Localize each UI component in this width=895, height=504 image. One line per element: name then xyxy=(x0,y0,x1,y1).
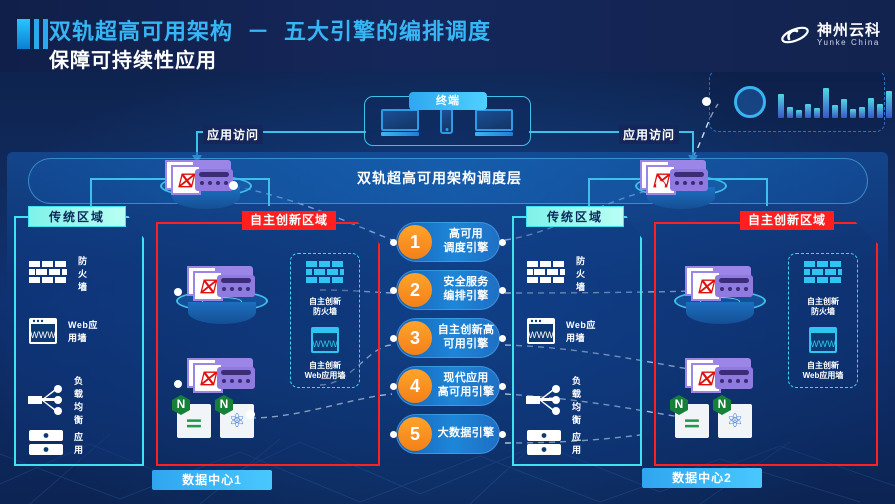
datacenter-2-label: 数据中心2 xyxy=(642,468,762,488)
k8s-icon-2: N ⚛ xyxy=(718,404,752,438)
innovation-webwall-1: WWW 自主创新Web应用墙 xyxy=(290,326,360,381)
engine-label-line2: 编排引擎 xyxy=(443,290,488,304)
slide-header: 双轨超高可用架构－五大引擎的编排调度 保障可持续性应用 神州云科 Yunke C… xyxy=(0,0,895,72)
traditional-item-应用: 应用 xyxy=(28,428,90,458)
engine-label-line1: 大数据引擎 xyxy=(438,427,495,441)
laptop-icon-left xyxy=(381,109,419,136)
traditional-item-label: Web应用墙 xyxy=(68,318,100,344)
server-stack-2a: ⛝ ⛝ xyxy=(685,266,751,300)
innovation-webwall-2-l1: 自主创新 xyxy=(807,361,839,370)
traditional-item-防火墙: 防火墙 xyxy=(28,254,90,293)
laptop-icon-right xyxy=(475,109,513,136)
metric-bar xyxy=(886,91,892,118)
page-subtitle: 保障可持续性应用 xyxy=(49,44,217,73)
traditional-item-负载均衡: 负载均衡 xyxy=(28,374,90,426)
engine-dot-left xyxy=(390,287,397,294)
application-icon xyxy=(526,428,562,458)
innovation-firewall-1: 自主创新防火墙 xyxy=(290,260,360,317)
scheduler-server-right: ⛝ ⛝ xyxy=(640,160,706,194)
engine-label: 大数据引擎 xyxy=(433,414,499,454)
engine-item-1[interactable]: 1高可用调度引擎 xyxy=(396,222,500,262)
svg-text:WWW: WWW xyxy=(30,330,56,340)
svg-text:WWW: WWW xyxy=(312,339,338,349)
engine-dot-right xyxy=(499,335,506,342)
innovation-zone-1-label: 自主创新区域 xyxy=(242,211,336,230)
metric-bar xyxy=(877,104,883,118)
scheduling-layer-label: 双轨超高可用架构调度层 xyxy=(357,168,522,188)
engine-label-line1: 高可用 xyxy=(449,228,483,242)
sched-drop-right-2 xyxy=(766,178,768,206)
engine-label-line1: 现代应用 xyxy=(443,372,488,386)
metric-bar xyxy=(832,105,838,118)
engine-item-4[interactable]: 4现代应用高可用引擎 xyxy=(396,366,500,406)
engine-dot-left xyxy=(390,383,397,390)
engine-label: 现代应用高可用引擎 xyxy=(433,366,499,406)
metric-bar xyxy=(841,99,847,118)
bar-chart-icon xyxy=(778,82,895,118)
traditional-item-label: 应用 xyxy=(572,430,588,456)
web-app-wall-icon: WWW xyxy=(808,341,838,358)
scheduler-server-left: ⛝ ⛝ xyxy=(165,160,231,194)
firewall-icon xyxy=(305,277,345,294)
traditional-item-label: 负载均衡 xyxy=(74,374,90,426)
metric-bar xyxy=(823,88,829,118)
traditional-item-Web应用墙: WWWWeb应用墙 xyxy=(526,316,598,346)
engine-dot-right xyxy=(499,239,506,246)
engine-dot-right xyxy=(499,431,506,438)
metric-bar xyxy=(859,107,865,118)
scheduler-right-dot xyxy=(656,181,665,190)
innovation-firewall-2-l2: 防火墙 xyxy=(811,307,835,316)
engine-dot-left xyxy=(390,431,397,438)
engine-item-5[interactable]: 5大数据引擎 xyxy=(396,414,500,454)
engine-label-line1: 安全服务 xyxy=(443,276,488,290)
engine-label: 自主创新高可用引擎 xyxy=(433,318,499,358)
server-stack-2b: ⛝ ⛝ xyxy=(685,358,751,392)
k8s-1-dot xyxy=(246,410,255,419)
engine-label-line1: 自主创新高 xyxy=(438,324,495,338)
web-app-wall-icon: WWW xyxy=(310,341,340,358)
logo-text: 神州云科 Yunke China xyxy=(817,23,881,47)
k8s-glyph-1: ⚛ xyxy=(228,410,245,433)
engine-item-2[interactable]: 2安全服务编排引擎 xyxy=(396,270,500,310)
donut-chart-icon xyxy=(734,86,766,118)
engine-item-3[interactable]: 3自主创新高可用引擎 xyxy=(396,318,500,358)
metrics-widget xyxy=(709,70,885,132)
traditional-item-防火墙: 防火墙 xyxy=(526,254,588,293)
logo-swirl-icon xyxy=(780,22,810,48)
server-1a-dot xyxy=(174,288,182,296)
innovation-firewall-1-l2: 防火墙 xyxy=(313,307,337,316)
monitor-connector-dot xyxy=(702,97,711,106)
engine-label-line2: 高可用引擎 xyxy=(438,386,495,400)
header-accent-bars xyxy=(17,19,48,49)
metric-bar xyxy=(805,104,811,118)
engine-label: 安全服务编排引擎 xyxy=(433,270,499,310)
engine-number: 5 xyxy=(398,417,432,451)
engine-list: 1高可用调度引擎2安全服务编排引擎3自主创新高可用引擎4现代应用高可用引擎5大数… xyxy=(396,222,500,462)
traditional-item-Web应用墙: WWWWeb应用墙 xyxy=(28,316,100,346)
innovation-webwall-1-l2: Web应用墙 xyxy=(305,371,346,380)
metric-bar xyxy=(868,98,874,118)
firewall-icon xyxy=(28,259,68,289)
web-app-wall-icon: WWW xyxy=(526,316,556,346)
traditional-item-label: 应用 xyxy=(74,430,90,456)
innovation-webwall-2-l2: Web应用墙 xyxy=(803,371,844,380)
traditional-item-label: Web应用墙 xyxy=(566,318,598,344)
application-icon xyxy=(28,428,64,458)
engine-dot-left xyxy=(390,335,397,342)
nginx-icon-2: N ⚌ xyxy=(675,404,709,438)
phone-icon xyxy=(440,108,453,134)
terminal-label: 终端 xyxy=(409,92,487,110)
access-label-right: 应用访问 xyxy=(619,125,679,144)
svg-text:WWW: WWW xyxy=(528,330,554,340)
engine-dot-right xyxy=(499,287,506,294)
title-separator: － xyxy=(233,19,284,44)
innovation-firewall-2-l1: 自主创新 xyxy=(807,297,839,306)
web-app-wall-icon: WWW xyxy=(28,316,58,346)
metric-bar xyxy=(787,107,793,118)
innovation-webwall-2: WWW 自主创新Web应用墙 xyxy=(788,326,858,381)
nginx-glyph-1: ⚌ xyxy=(186,411,202,432)
load-balancer-icon xyxy=(28,385,64,415)
engine-dot-left xyxy=(390,239,397,246)
metric-bar xyxy=(796,110,802,118)
logo-name-en: Yunke China xyxy=(817,39,881,47)
engine-number: 4 xyxy=(398,369,432,403)
server-stack-1b: ⛝ ⛝ xyxy=(187,358,253,392)
server-stack-1a: ⛝ ⛝ xyxy=(187,266,253,300)
metric-bar xyxy=(850,109,856,118)
sched-drop-left-2 xyxy=(268,178,270,206)
sched-drop-right-1 xyxy=(588,178,590,206)
traditional-item-负载均衡: 负载均衡 xyxy=(526,374,588,426)
engine-number: 1 xyxy=(398,225,432,259)
engine-dot-right xyxy=(499,383,506,390)
innovation-firewall-1-l1: 自主创新 xyxy=(309,297,341,306)
nginx-icon-1: N ⚌ xyxy=(177,404,211,438)
firewall-icon xyxy=(526,259,566,289)
engine-label: 高可用调度引擎 xyxy=(433,222,499,262)
engine-label-line2: 调度引擎 xyxy=(443,242,488,256)
traditional-zone-2-label: 传统区域 xyxy=(526,206,624,227)
traditional-item-应用: 应用 xyxy=(526,428,588,458)
load-balancer-icon xyxy=(526,385,562,415)
engine-number: 2 xyxy=(398,273,432,307)
sched-drop-left-1 xyxy=(90,178,92,206)
page-title-part1: 双轨超高可用架构 xyxy=(49,19,233,44)
engine-number: 3 xyxy=(398,321,432,355)
slide-canvas: 双轨超高可用架构－五大引擎的编排调度 保障可持续性应用 神州云科 Yunke C… xyxy=(0,0,895,504)
k8s-glyph-2: ⚛ xyxy=(726,410,743,433)
innovation-firewall-2: 自主创新防火墙 xyxy=(788,260,858,317)
traditional-item-label: 负载均衡 xyxy=(572,374,588,426)
firewall-icon xyxy=(803,277,843,294)
server-1b-dot xyxy=(174,380,182,388)
nginx-glyph-2: ⚌ xyxy=(684,411,700,432)
logo-name-cn: 神州云科 xyxy=(817,23,881,39)
svg-text:WWW: WWW xyxy=(810,339,836,349)
engine-label-line2: 可用引擎 xyxy=(443,338,488,352)
scheduler-left-dot xyxy=(229,181,238,190)
innovation-webwall-1-l1: 自主创新 xyxy=(309,361,341,370)
traditional-item-label: 防火墙 xyxy=(78,254,90,293)
metric-bar xyxy=(778,94,784,118)
innovation-zone-2-label: 自主创新区域 xyxy=(740,211,834,230)
traditional-item-label: 防火墙 xyxy=(576,254,588,293)
page-title-part2: 五大引擎的编排调度 xyxy=(284,19,491,44)
metric-bar xyxy=(814,108,820,118)
brand-logo: 神州云科 Yunke China xyxy=(780,22,881,48)
page-title: 双轨超高可用架构－五大引擎的编排调度 xyxy=(49,14,491,46)
datacenter-1-label: 数据中心1 xyxy=(152,470,272,490)
access-label-left: 应用访问 xyxy=(203,125,263,144)
traditional-zone-1-label: 传统区域 xyxy=(28,206,126,227)
